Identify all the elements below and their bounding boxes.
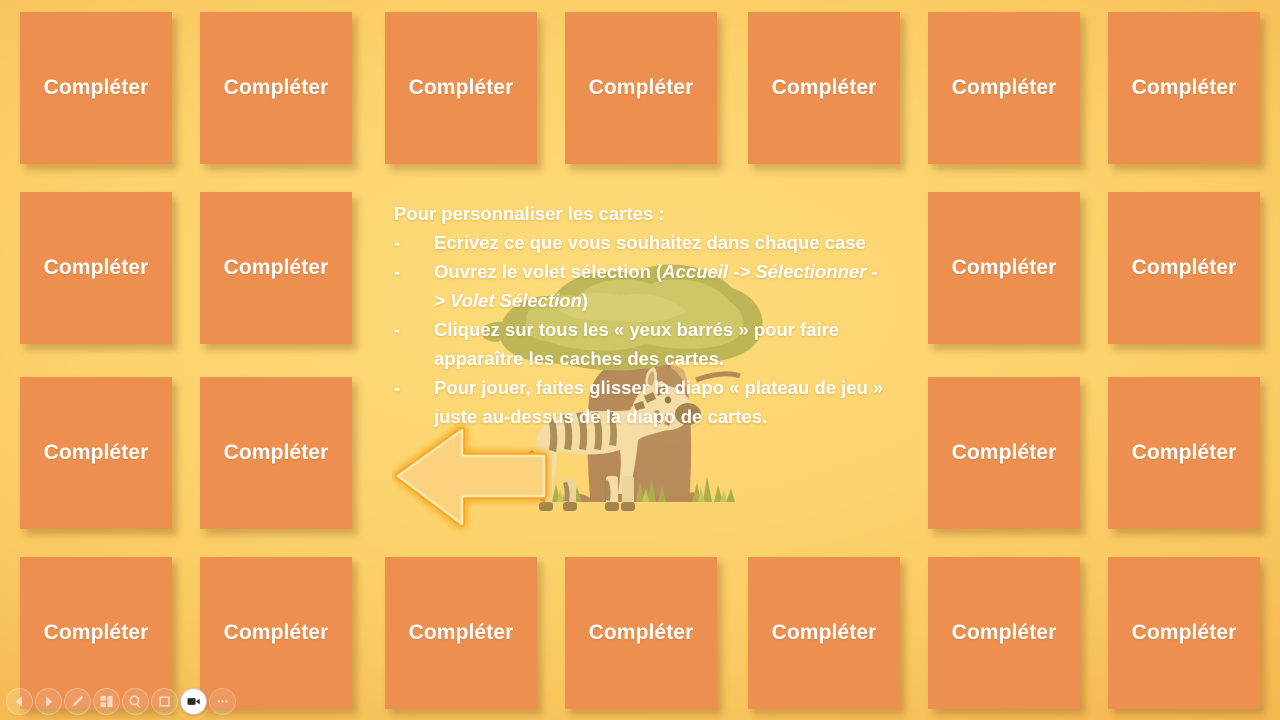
instruction-text: Ouvrez le volet sélection ( (434, 261, 662, 282)
instructions-block: Pour personnaliser les cartes : - Ecrive… (394, 199, 886, 431)
instructions-heading: Pour personnaliser les cartes : (394, 199, 886, 228)
card-r1-c1[interactable]: Compléter (20, 12, 172, 164)
all-slides-button[interactable] (93, 688, 120, 715)
card-label: Compléter (952, 256, 1057, 280)
card-label: Compléter (44, 76, 149, 100)
instruction-item-1: - Ecrivez ce que vous souhaitez dans cha… (394, 228, 886, 257)
zoom-button[interactable] (122, 688, 149, 715)
triangle-right-icon (41, 694, 56, 709)
card-r1-c4[interactable]: Compléter (565, 12, 717, 164)
ellipsis-icon (215, 694, 230, 709)
card-r3-c6[interactable]: Compléter (928, 377, 1080, 529)
bullet-marker: - (394, 315, 400, 344)
instruction-item-4: - Pour jouer, faites glisser la diapo « … (394, 373, 886, 431)
card-label: Compléter (409, 621, 514, 645)
bullet-marker: - (394, 257, 400, 286)
card-label: Compléter (224, 441, 329, 465)
record-button[interactable] (180, 688, 207, 715)
card-r3-c1[interactable]: Compléter (20, 377, 172, 529)
card-r1-c3[interactable]: Compléter (385, 12, 537, 164)
magnifier-icon (128, 694, 143, 709)
left-pointing-arrow-icon (392, 414, 552, 536)
video-camera-icon (186, 694, 201, 709)
presentation-slide: Pour personnaliser les cartes : - Ecrive… (0, 0, 1280, 720)
card-label: Compléter (952, 76, 1057, 100)
card-r2-c6[interactable]: Compléter (928, 192, 1080, 344)
next-slide-button[interactable] (35, 688, 62, 715)
card-label: Compléter (952, 621, 1057, 645)
card-label: Compléter (952, 441, 1057, 465)
card-r2-c2[interactable]: Compléter (200, 192, 352, 344)
card-label: Compléter (1132, 621, 1237, 645)
instructions-list: - Ecrivez ce que vous souhaitez dans cha… (394, 228, 886, 431)
pen-icon (70, 694, 85, 709)
card-label: Compléter (44, 256, 149, 280)
previous-slide-button[interactable] (6, 688, 33, 715)
bullet-marker: - (394, 228, 400, 257)
card-label: Compléter (1132, 76, 1237, 100)
card-label: Compléter (224, 256, 329, 280)
more-options-button[interactable] (209, 688, 236, 715)
card-r1-c7[interactable]: Compléter (1108, 12, 1260, 164)
card-r4-c5[interactable]: Compléter (748, 557, 900, 709)
instruction-item-3: - Cliquez sur tous les « yeux barrés » p… (394, 315, 886, 373)
card-label: Compléter (772, 76, 877, 100)
card-r4-c3[interactable]: Compléter (385, 557, 537, 709)
triangle-left-icon (12, 694, 27, 709)
card-r2-c7[interactable]: Compléter (1108, 192, 1260, 344)
card-label: Compléter (224, 621, 329, 645)
instruction-text-post: ) (582, 290, 588, 311)
card-r3-c2[interactable]: Compléter (200, 377, 352, 529)
blank-screen-button[interactable] (151, 688, 178, 715)
square-icon (157, 694, 172, 709)
bullet-marker: - (394, 373, 400, 402)
card-label: Compléter (589, 76, 694, 100)
card-label: Compléter (589, 621, 694, 645)
card-label: Compléter (224, 76, 329, 100)
grid-icon (99, 694, 114, 709)
card-label: Compléter (44, 441, 149, 465)
card-r1-c5[interactable]: Compléter (748, 12, 900, 164)
card-label: Compléter (409, 76, 514, 100)
card-r1-c2[interactable]: Compléter (200, 12, 352, 164)
presentation-toolbar (6, 686, 236, 716)
card-label: Compléter (1132, 441, 1237, 465)
card-r4-c7[interactable]: Compléter (1108, 557, 1260, 709)
instruction-item-2: - Ouvrez le volet sélection (Accueil -> … (394, 257, 886, 315)
pen-button[interactable] (64, 688, 91, 715)
instruction-text: Cliquez sur tous les « yeux barrés » pou… (434, 319, 839, 369)
card-label: Compléter (772, 621, 877, 645)
card-r1-c6[interactable]: Compléter (928, 12, 1080, 164)
card-label: Compléter (44, 621, 149, 645)
card-label: Compléter (1132, 256, 1237, 280)
instruction-text: Ecrivez ce que vous souhaitez dans chaqu… (434, 232, 866, 253)
card-r3-c7[interactable]: Compléter (1108, 377, 1260, 529)
instruction-text: Pour jouer, faites glisser la diapo « pl… (434, 377, 883, 427)
card-r4-c4[interactable]: Compléter (565, 557, 717, 709)
card-r2-c1[interactable]: Compléter (20, 192, 172, 344)
card-r4-c6[interactable]: Compléter (928, 557, 1080, 709)
